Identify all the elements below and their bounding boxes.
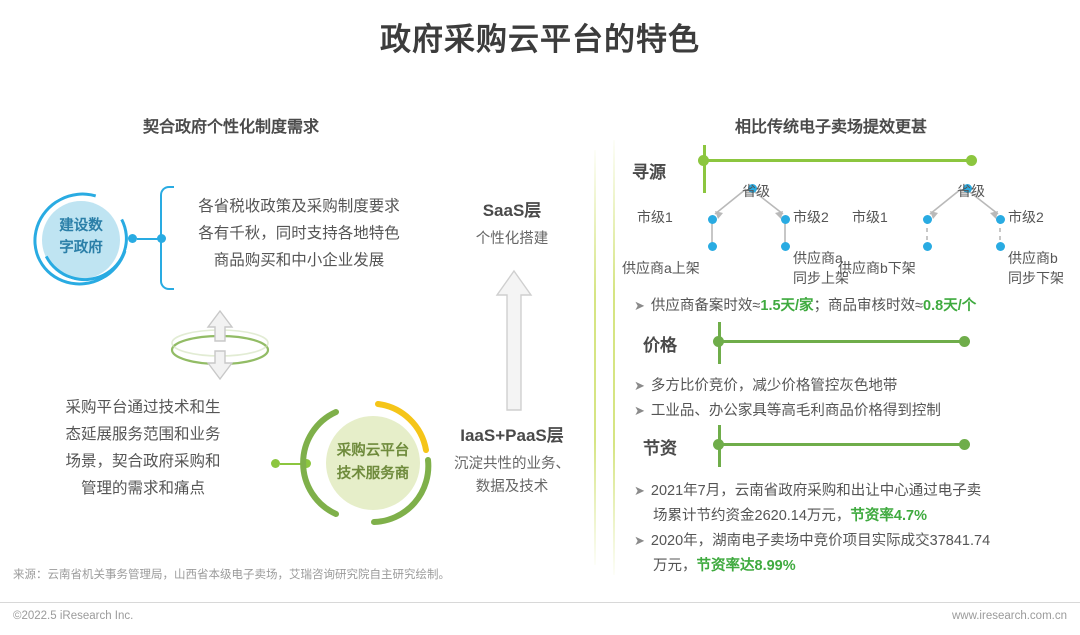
blue-circle-label: 建设数 字政府 <box>42 215 120 259</box>
bullet-savings-2-line2b: 节资率达8.99% <box>697 558 796 574</box>
left-bottom-line-1: 采购平台通过技术和生 <box>65 399 220 416</box>
tree2-label-city2: 市级2 <box>1008 207 1044 227</box>
tree2-label-leaf2-line1: 供应商b <box>1008 250 1058 266</box>
bullet-price-2: ➤工业品、办公家具等高毛利商品价格得到控制 <box>634 398 1074 424</box>
stage-label-price: 价格 <box>643 331 677 356</box>
bidirectional-cycle-icon <box>168 305 272 383</box>
tree-node-leaf2-dot <box>781 242 790 251</box>
bullet-sourcing-1: ➤供应商备案时效≈1.5天/家；商品审核时效≈0.8天/个 <box>634 293 1074 319</box>
blue-circle-label-line1: 建设数 <box>59 218 103 234</box>
tree-label-leaf1: 供应商a上架 <box>622 258 700 278</box>
tree2-label-province: 省级 <box>957 181 985 201</box>
right-section-heading: 相比传统电子卖场提效更甚 <box>735 113 927 137</box>
tree2-node-leaf2-dot <box>996 242 1005 251</box>
bullet-savings-1: ➤2021年7月，云南省政府采购和出让中心通过电子卖 场累计节约资金2620.1… <box>634 478 1080 529</box>
copyright-text: ©2022.5 iResearch Inc. <box>13 610 133 622</box>
bullet-sourcing-1-seg2: 1.5天/家 <box>760 298 813 314</box>
left-section-heading: 契合政府个性化制度需求 <box>143 113 319 137</box>
tree-node-city2-dot <box>781 215 790 224</box>
tree-label-city1: 市级1 <box>637 207 673 227</box>
timeline-dot-end-savings <box>959 439 970 450</box>
left-bottom-line-3: 场景，契合政府采购和 <box>65 453 220 470</box>
green-circle-label-line1: 采购云平台 <box>337 443 410 459</box>
iaas-paas-layer-name: IaaS+PaaS层 <box>428 421 596 446</box>
tree2-label-leaf2-line2: 同步下架 <box>1008 270 1064 286</box>
bullet-price-2-text: 工业品、办公家具等高毛利商品价格得到控制 <box>651 403 941 419</box>
iaas-paas-layer-desc-1: 沉淀共性的业务、 <box>428 453 596 476</box>
bullet-arrow-icon: ➤ <box>634 378 645 393</box>
timeline-dot-start-savings <box>713 439 724 450</box>
stage-label-sourcing: 寻源 <box>632 158 666 183</box>
left-bottom-description: 采购平台通过技术和生 态延展服务范围和业务 场景，契合政府采购和 管理的需求和痛… <box>14 394 272 502</box>
timeline-dot-end-sourcing <box>966 155 977 166</box>
bullet-savings-2-line1: 2020年，湖南电子卖场中竞价项目实际成交37841.74 <box>651 533 990 549</box>
bullet-sourcing-1-seg3: ；商品审核时效≈ <box>814 298 923 314</box>
tree-node-city1-dot <box>708 215 717 224</box>
timeline-bar-sourcing <box>703 159 973 162</box>
saas-layer-name: SaaS层 <box>432 196 592 221</box>
bullet-sourcing-1-seg1: 供应商备案时效≈ <box>651 298 760 314</box>
left-top-line-3: 商品购买和中小企业发展 <box>214 252 385 269</box>
bullet-savings-1-line2b: 节资率4.7% <box>850 508 927 524</box>
footer-divider <box>0 602 1080 603</box>
left-bottom-line-4: 管理的需求和痛点 <box>81 480 205 497</box>
tree2-node-city1-dot <box>923 215 932 224</box>
column-divider-left <box>594 150 596 565</box>
website-link[interactable]: www.iresearch.com.cn <box>952 610 1067 622</box>
timeline-dot-end-price <box>959 336 970 347</box>
bullet-arrow-icon: ➤ <box>634 533 645 548</box>
bullet-savings-1-line2a: 场累计节约资金2620.14万元， <box>653 508 850 524</box>
bullet-arrow-icon: ➤ <box>634 483 645 498</box>
timeline-dot-start-price <box>713 336 724 347</box>
tree-label-leaf2-line1: 供应商a <box>793 250 843 266</box>
tree-node-leaf1-dot <box>708 242 717 251</box>
green-connector-dot-left <box>271 459 280 468</box>
timeline-dot-start-sourcing <box>698 155 709 166</box>
bullet-price-1-text: 多方比价竞价，减少价格管控灰色地带 <box>651 378 898 394</box>
tree2-node-city2-dot <box>996 215 1005 224</box>
bullet-savings-2-line2a: 万元， <box>653 558 697 574</box>
left-top-line-1: 各省税收政策及采购制度要求 <box>198 198 400 215</box>
tree2-node-leaf1-dot <box>923 242 932 251</box>
left-bottom-line-2: 态延展服务范围和业务 <box>65 426 220 443</box>
left-top-line-2: 各有千秋，同时支持各地特色 <box>198 225 400 242</box>
connector-line <box>137 238 159 240</box>
bullet-sourcing-1-seg4: 0.8天/个 <box>923 298 976 314</box>
connector-dot-left <box>128 234 137 243</box>
left-top-description: 各省税收政策及采购制度要求 各有千秋，同时支持各地特色 商品购买和中小企业发展 <box>168 193 430 274</box>
green-circle-label-line2: 技术服务商 <box>337 466 410 482</box>
tree-label-province: 省级 <box>742 181 770 201</box>
tree2-label-leaf1: 供应商b下架 <box>838 258 916 278</box>
bullet-savings-2: ➤2020年，湖南电子卖场中竞价项目实际成交37841.74 万元，节资率达8.… <box>634 528 1080 579</box>
blue-circle-label-line2: 字政府 <box>59 240 103 256</box>
tree2-label-leaf2: 供应商b 同步下架 <box>1008 248 1064 288</box>
tree-label-city2: 市级2 <box>793 207 829 227</box>
green-circle-label: 采购云平台 技术服务商 <box>326 440 420 486</box>
up-arrow-icon <box>494 268 534 418</box>
column-divider-right <box>613 140 615 575</box>
cloud-platform-provider-node: 采购云平台 技术服务商 <box>300 398 440 530</box>
digital-government-node: 建设数 字政府 <box>28 193 140 285</box>
timeline-bar-price <box>718 340 966 343</box>
saas-layer-label: SaaS层 个性化搭建 <box>432 196 592 251</box>
bullet-savings-1-line1: 2021年7月，云南省政府采购和出让中心通过电子卖 <box>651 483 981 499</box>
stage-label-savings: 节资 <box>643 434 677 459</box>
tree2-label-city1: 市级1 <box>852 207 888 227</box>
bullet-arrow-icon: ➤ <box>634 403 645 418</box>
source-note: 来源：云南省机关事务管理局，山西省本级电子卖场，艾瑞咨询研究院自主研究绘制。 <box>13 566 450 582</box>
iaas-paas-layer-desc-2: 数据及技术 <box>428 476 596 499</box>
page-title: 政府采购云平台的特色 <box>0 14 1080 59</box>
saas-layer-desc: 个性化搭建 <box>432 228 592 251</box>
bullet-arrow-icon: ➤ <box>634 298 645 313</box>
bullet-price-1: ➤多方比价竞价，减少价格管控灰色地带 <box>634 373 1074 399</box>
iaas-paas-layer-label: IaaS+PaaS层 沉淀共性的业务、 数据及技术 <box>428 421 596 499</box>
timeline-bar-savings <box>718 443 966 446</box>
